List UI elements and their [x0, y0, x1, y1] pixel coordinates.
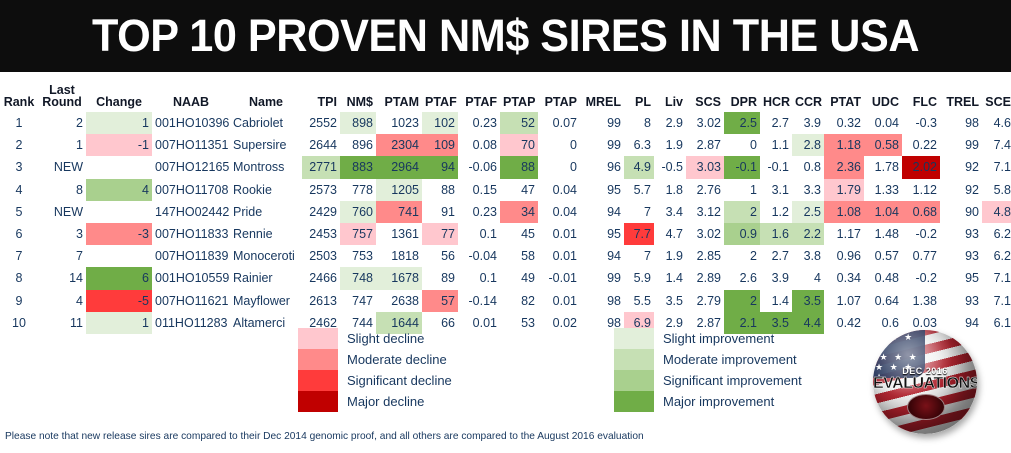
legend-swatch — [298, 349, 338, 370]
legend-swatch — [614, 349, 654, 370]
cell-udc: 1.33 — [864, 179, 902, 201]
cell-ccr: 2.2 — [792, 223, 824, 245]
cell-nm: 883 — [340, 156, 376, 178]
cell-ptap: 52 — [500, 112, 538, 134]
col-ptap: PTAP — [500, 78, 538, 112]
col-scs: SCS — [686, 78, 724, 112]
legend-swatch — [298, 391, 338, 412]
cell-ccr: 3.3 — [792, 179, 824, 201]
cell-sce: 7.1 — [982, 267, 1011, 289]
cell-ccr: 4 — [792, 267, 824, 289]
cell-rank: 8 — [0, 267, 38, 289]
cell-ptap-pct: -0.01 — [538, 267, 580, 289]
cell-sce: 4.8 — [982, 201, 1011, 223]
cell-ptaf-pct: 0.1 — [458, 267, 500, 289]
cell-scs: 2.79 — [686, 290, 724, 312]
cell-hcr: 1.1 — [760, 134, 792, 156]
cell-tpi: 2613 — [302, 290, 340, 312]
legend-swatch — [298, 370, 338, 391]
cell-ptaf: 91 — [422, 201, 458, 223]
cell-ptaf: 88 — [422, 179, 458, 201]
cell-last-round: 14 — [38, 267, 86, 289]
cell-name: Rookie — [230, 179, 302, 201]
cell-pl: 5.5 — [624, 290, 654, 312]
cell-pl: 7 — [624, 201, 654, 223]
cell-ptam: 2304 — [376, 134, 422, 156]
col-udc: UDC — [864, 78, 902, 112]
cell-scs: 2.85 — [686, 245, 724, 267]
cell-naab: 007HO11708 — [152, 179, 230, 201]
cell-last-round: 7 — [38, 245, 86, 267]
cell-flc: -0.2 — [902, 223, 940, 245]
col-ptap-pct: PTAP — [538, 78, 580, 112]
cell-liv: 3.4 — [654, 201, 686, 223]
cell-flc: 0.68 — [902, 201, 940, 223]
cell-mrel: 99 — [580, 267, 624, 289]
cell-ptat: 0.96 — [824, 245, 864, 267]
col-hcr: HCR — [760, 78, 792, 112]
cell-hcr: 1.2 — [760, 201, 792, 223]
cell-ccr: 3.9 — [792, 112, 824, 134]
cell-liv: 1.8 — [654, 179, 686, 201]
logo-wordmark: EVALUATIONS — [873, 375, 977, 393]
logo-seal-icon — [907, 394, 945, 420]
cell-tpi: 2466 — [302, 267, 340, 289]
legend-label: Moderate improvement — [663, 352, 797, 367]
cell-scs: 2.89 — [686, 267, 724, 289]
cell-ptat: 2.36 — [824, 156, 864, 178]
legend-row: Significant decline — [298, 370, 452, 391]
col-ptat: PTAT — [824, 78, 864, 112]
cell-liv: 3.5 — [654, 290, 686, 312]
cell-tpi: 2552 — [302, 112, 340, 134]
cell-ptam: 1023 — [376, 112, 422, 134]
legend-improvement: Slight improvementModerate improvementSi… — [614, 328, 802, 412]
cell-ptap-pct: 0.04 — [538, 179, 580, 201]
cell-ccr: 2.8 — [792, 134, 824, 156]
cell-ptaf-pct: 0.23 — [458, 201, 500, 223]
cell-udc: 0.48 — [864, 267, 902, 289]
cell-dpr: 2 — [724, 245, 760, 267]
cell-dpr: -0.1 — [724, 156, 760, 178]
cell-trel: 93 — [940, 290, 982, 312]
col-rank: Rank — [0, 78, 38, 112]
cell-naab: 007HO11833 — [152, 223, 230, 245]
cell-mrel: 94 — [580, 201, 624, 223]
cell-ptam: 741 — [376, 201, 422, 223]
cell-sce: 5.8 — [982, 179, 1011, 201]
cell-hcr: 3.9 — [760, 267, 792, 289]
cell-ptap-pct: 0 — [538, 156, 580, 178]
cell-name: Cabriolet — [230, 112, 302, 134]
cell-ptap: 58 — [500, 245, 538, 267]
cell-ccr: 3.8 — [792, 245, 824, 267]
cell-ccr: 0.8 — [792, 156, 824, 178]
legend-row: Slight decline — [298, 328, 452, 349]
legend: Slight declineModerate declineSignifican… — [0, 328, 1011, 420]
page-title: TOP 10 PROVEN NM$ SIRES IN THE USA — [20, 0, 991, 72]
table-row: 77007HO11839Monoceroti2503753181856-0.04… — [0, 245, 1011, 267]
cell-naab: 001HO10396 — [152, 112, 230, 134]
cell-name: Montross — [230, 156, 302, 178]
cell-change — [86, 201, 152, 223]
cell-pl: 6.3 — [624, 134, 654, 156]
cell-sce: 7.1 — [982, 156, 1011, 178]
cell-nm: 748 — [340, 267, 376, 289]
cell-ptam: 2638 — [376, 290, 422, 312]
cell-ptaf: 89 — [422, 267, 458, 289]
cell-rank: 2 — [0, 134, 38, 156]
cell-naab: 007HO11839 — [152, 245, 230, 267]
col-ptaf-pct: PTAF — [458, 78, 500, 112]
cell-udc: 0.57 — [864, 245, 902, 267]
table-row: 8146001HO10559Rainier24667481678890.149-… — [0, 267, 1011, 289]
cell-liv: -0.5 — [654, 156, 686, 178]
legend-label: Major improvement — [663, 394, 774, 409]
cell-udc: 0.64 — [864, 290, 902, 312]
header-banner: TOP 10 PROVEN NM$ SIRES IN THE USA — [0, 0, 1011, 72]
cell-ptaf: 109 — [422, 134, 458, 156]
table-row: 5NEW147HO02442Pride2429760741910.23340.0… — [0, 201, 1011, 223]
cell-mrel: 94 — [580, 245, 624, 267]
legend-row: Moderate decline — [298, 349, 452, 370]
cell-last-round: 8 — [38, 179, 86, 201]
cell-ptaf-pct: 0.23 — [458, 112, 500, 134]
cell-ptam: 1361 — [376, 223, 422, 245]
cell-ptam: 2964 — [376, 156, 422, 178]
cell-ptap-pct: 0.04 — [538, 201, 580, 223]
table-row: 121001HO10396Cabriolet255289810231020.23… — [0, 112, 1011, 134]
cell-flc: 0.77 — [902, 245, 940, 267]
cell-naab: 001HO10559 — [152, 267, 230, 289]
cell-liv: 1.9 — [654, 245, 686, 267]
legend-row: Slight improvement — [614, 328, 802, 349]
cell-naab: 007HO11621 — [152, 290, 230, 312]
cell-nm: 778 — [340, 179, 376, 201]
cell-mrel: 95 — [580, 223, 624, 245]
cell-ptam: 1818 — [376, 245, 422, 267]
cell-tpi: 2453 — [302, 223, 340, 245]
cell-dpr: 0.9 — [724, 223, 760, 245]
cell-naab: 147HO02442 — [152, 201, 230, 223]
cell-ptat: 1.18 — [824, 134, 864, 156]
cell-change: 4 — [86, 179, 152, 201]
cell-scs: 3.03 — [686, 156, 724, 178]
cell-dpr: 2 — [724, 201, 760, 223]
cell-trel: 92 — [940, 156, 982, 178]
table-row: 3NEW007HO12165Montross2771883296494-0.06… — [0, 156, 1011, 178]
cell-hcr: 3.1 — [760, 179, 792, 201]
cell-pl: 7 — [624, 245, 654, 267]
cell-nm: 757 — [340, 223, 376, 245]
cell-liv: 2.9 — [654, 112, 686, 134]
cell-ccr: 2.5 — [792, 201, 824, 223]
legend-label: Slight decline — [347, 331, 424, 346]
legend-swatch — [614, 370, 654, 391]
legend-label: Slight improvement — [663, 331, 774, 346]
col-liv: Liv — [654, 78, 686, 112]
table-body: 121001HO10396Cabriolet255289810231020.23… — [0, 112, 1011, 334]
col-last-round-line2: Round — [42, 95, 82, 109]
table-row: 21-1007HO11351Supersire264489623041090.0… — [0, 134, 1011, 156]
col-dpr: DPR — [724, 78, 760, 112]
cell-ptap: 70 — [500, 134, 538, 156]
legend-swatch — [298, 328, 338, 349]
cell-dpr: 0 — [724, 134, 760, 156]
cell-udc: 1.48 — [864, 223, 902, 245]
cell-ptap-pct: 0.01 — [538, 245, 580, 267]
cell-ptaf: 102 — [422, 112, 458, 134]
cell-ptat: 0.32 — [824, 112, 864, 134]
cell-scs: 3.02 — [686, 112, 724, 134]
cell-mrel: 99 — [580, 134, 624, 156]
cell-hcr: 1.6 — [760, 223, 792, 245]
cell-name: Mayflower — [230, 290, 302, 312]
cell-rank: 4 — [0, 179, 38, 201]
cell-ptaf-pct: -0.06 — [458, 156, 500, 178]
table-row: 63-3007HO11833Rennie24537571361770.1450.… — [0, 223, 1011, 245]
cell-ptaf: 77 — [422, 223, 458, 245]
cell-dpr: 2.5 — [724, 112, 760, 134]
cell-tpi: 2771 — [302, 156, 340, 178]
cell-ptap-pct: 0.01 — [538, 290, 580, 312]
cell-change — [86, 245, 152, 267]
cell-nm: 760 — [340, 201, 376, 223]
sires-table: Rank Last Round Change NAAB Name TPI NM$… — [0, 78, 1011, 334]
cell-udc: 1.78 — [864, 156, 902, 178]
cell-pl: 5.7 — [624, 179, 654, 201]
col-ptam: PTAM — [376, 78, 422, 112]
cell-flc: 1.12 — [902, 179, 940, 201]
cell-sce: 7.4 — [982, 134, 1011, 156]
cell-ptat: 1.17 — [824, 223, 864, 245]
cell-last-round: NEW — [38, 156, 86, 178]
cell-last-round: 3 — [38, 223, 86, 245]
legend-row: Moderate improvement — [614, 349, 802, 370]
cell-trel: 99 — [940, 134, 982, 156]
cell-liv: 1.9 — [654, 134, 686, 156]
cell-pl: 7.7 — [624, 223, 654, 245]
cell-ptaf: 56 — [422, 245, 458, 267]
cell-ptaf-pct: 0.15 — [458, 179, 500, 201]
cell-udc: 0.04 — [864, 112, 902, 134]
table-header-row: Rank Last Round Change NAAB Name TPI NM$… — [0, 78, 1011, 112]
cell-last-round: 1 — [38, 134, 86, 156]
cell-mrel: 95 — [580, 179, 624, 201]
cell-rank: 7 — [0, 245, 38, 267]
cell-ptat: 0.34 — [824, 267, 864, 289]
legend-decline: Slight declineModerate declineSignifican… — [298, 328, 452, 412]
cell-ptat: 1.08 — [824, 201, 864, 223]
cell-trel: 98 — [940, 112, 982, 134]
cell-ptap-pct: 0 — [538, 134, 580, 156]
cell-sce: 7.1 — [982, 290, 1011, 312]
legend-swatch — [614, 391, 654, 412]
cell-flc: 0.22 — [902, 134, 940, 156]
cell-scs: 2.87 — [686, 134, 724, 156]
cell-name: Supersire — [230, 134, 302, 156]
cell-hcr: -0.1 — [760, 156, 792, 178]
cell-change: 1 — [86, 112, 152, 134]
cell-dpr: 2.6 — [724, 267, 760, 289]
legend-row: Significant improvement — [614, 370, 802, 391]
cell-mrel: 98 — [580, 290, 624, 312]
col-trel: TREL — [940, 78, 982, 112]
cell-rank: 3 — [0, 156, 38, 178]
cell-ptap: 47 — [500, 179, 538, 201]
cell-ptap: 45 — [500, 223, 538, 245]
cell-rank: 6 — [0, 223, 38, 245]
legend-row: Major decline — [298, 391, 452, 412]
cell-trel: 90 — [940, 201, 982, 223]
cell-ptap: 49 — [500, 267, 538, 289]
legend-label: Significant improvement — [663, 373, 802, 388]
cell-name: Monoceroti — [230, 245, 302, 267]
legend-row: Major improvement — [614, 391, 802, 412]
cell-tpi: 2503 — [302, 245, 340, 267]
cell-scs: 3.12 — [686, 201, 724, 223]
cell-trel: 92 — [940, 179, 982, 201]
cell-ccr: 3.5 — [792, 290, 824, 312]
cell-ptap: 82 — [500, 290, 538, 312]
cell-pl: 5.9 — [624, 267, 654, 289]
cell-change: 6 — [86, 267, 152, 289]
cell-ptaf: 94 — [422, 156, 458, 178]
cell-ptap-pct: 0.07 — [538, 112, 580, 134]
cell-ptam: 1678 — [376, 267, 422, 289]
cell-liv: 1.4 — [654, 267, 686, 289]
cell-naab: 007HO12165 — [152, 156, 230, 178]
cell-rank: 5 — [0, 201, 38, 223]
cell-ptap: 88 — [500, 156, 538, 178]
cell-flc: -0.3 — [902, 112, 940, 134]
col-mrel: MREL — [580, 78, 624, 112]
cell-change: -5 — [86, 290, 152, 312]
cell-liv: 4.7 — [654, 223, 686, 245]
col-tpi: TPI — [302, 78, 340, 112]
cell-tpi: 2573 — [302, 179, 340, 201]
cell-change: -3 — [86, 223, 152, 245]
cell-rank: 1 — [0, 112, 38, 134]
cell-dpr: 2 — [724, 290, 760, 312]
cell-udc: 0.58 — [864, 134, 902, 156]
cell-ptaf-pct: 0.08 — [458, 134, 500, 156]
cell-pl: 4.9 — [624, 156, 654, 178]
evaluations-logo: ★ ★ ★ ★ ★ ★ ★★ ★ ★ ★ ★ ★ ★ DEC 2016 EVAL… — [866, 330, 988, 436]
table-row: 484007HO11708Rookie25737781205880.15470.… — [0, 179, 1011, 201]
cell-last-round: 4 — [38, 290, 86, 312]
cell-pl: 8 — [624, 112, 654, 134]
cell-change — [86, 156, 152, 178]
cell-ptap-pct: 0.01 — [538, 223, 580, 245]
cell-ptat: 1.79 — [824, 179, 864, 201]
col-change: Change — [86, 78, 152, 112]
cell-nm: 747 — [340, 290, 376, 312]
cell-nm: 896 — [340, 134, 376, 156]
cell-tpi: 2429 — [302, 201, 340, 223]
legend-label: Major decline — [347, 394, 424, 409]
cell-sce: 6.2 — [982, 223, 1011, 245]
col-naab: NAAB — [152, 78, 230, 112]
cell-scs: 3.02 — [686, 223, 724, 245]
cell-flc: -0.2 — [902, 267, 940, 289]
col-sce: SCE — [982, 78, 1011, 112]
cell-mrel: 99 — [580, 112, 624, 134]
cell-hcr: 2.7 — [760, 245, 792, 267]
cell-nm: 753 — [340, 245, 376, 267]
cell-name: Rainier — [230, 267, 302, 289]
legend-swatch — [614, 328, 654, 349]
cell-tpi: 2644 — [302, 134, 340, 156]
col-ccr: CCR — [792, 78, 824, 112]
cell-ptat: 1.07 — [824, 290, 864, 312]
cell-trel: 93 — [940, 245, 982, 267]
cell-hcr: 2.7 — [760, 112, 792, 134]
cell-trel: 95 — [940, 267, 982, 289]
cell-change: -1 — [86, 134, 152, 156]
cell-trel: 93 — [940, 223, 982, 245]
cell-last-round: NEW — [38, 201, 86, 223]
cell-ptaf-pct: 0.1 — [458, 223, 500, 245]
cell-flc: 2.02 — [902, 156, 940, 178]
cell-mrel: 96 — [580, 156, 624, 178]
cell-udc: 1.04 — [864, 201, 902, 223]
cell-scs: 2.76 — [686, 179, 724, 201]
col-last-round: Last Round — [38, 78, 86, 112]
col-ptaf: PTAF — [422, 78, 458, 112]
table-row: 94-5007HO11621Mayflower2613747263857-0.1… — [0, 290, 1011, 312]
cell-ptap: 34 — [500, 201, 538, 223]
col-nm: NM$ — [340, 78, 376, 112]
cell-name: Pride — [230, 201, 302, 223]
cell-name: Rennie — [230, 223, 302, 245]
legend-label: Significant decline — [347, 373, 452, 388]
cell-ptaf: 57 — [422, 290, 458, 312]
cell-dpr: 1 — [724, 179, 760, 201]
cell-last-round: 2 — [38, 112, 86, 134]
col-pl: PL — [624, 78, 654, 112]
cell-hcr: 1.4 — [760, 290, 792, 312]
logo-sphere: ★ ★ ★ ★ ★ ★ ★★ ★ ★ ★ ★ ★ ★ DEC 2016 EVAL… — [873, 330, 977, 434]
cell-sce: 6.2 — [982, 245, 1011, 267]
cell-ptam: 1205 — [376, 179, 422, 201]
cell-flc: 1.38 — [902, 290, 940, 312]
cell-ptaf-pct: -0.14 — [458, 290, 500, 312]
col-flc: FLC — [902, 78, 940, 112]
legend-label: Moderate decline — [347, 352, 447, 367]
cell-naab: 007HO11351 — [152, 134, 230, 156]
cell-ptaf-pct: -0.04 — [458, 245, 500, 267]
cell-nm: 898 — [340, 112, 376, 134]
col-name: Name — [230, 78, 302, 112]
cell-rank: 9 — [0, 290, 38, 312]
footnote: Please note that new release sires are c… — [5, 430, 644, 442]
cell-sce: 4.6 — [982, 112, 1011, 134]
